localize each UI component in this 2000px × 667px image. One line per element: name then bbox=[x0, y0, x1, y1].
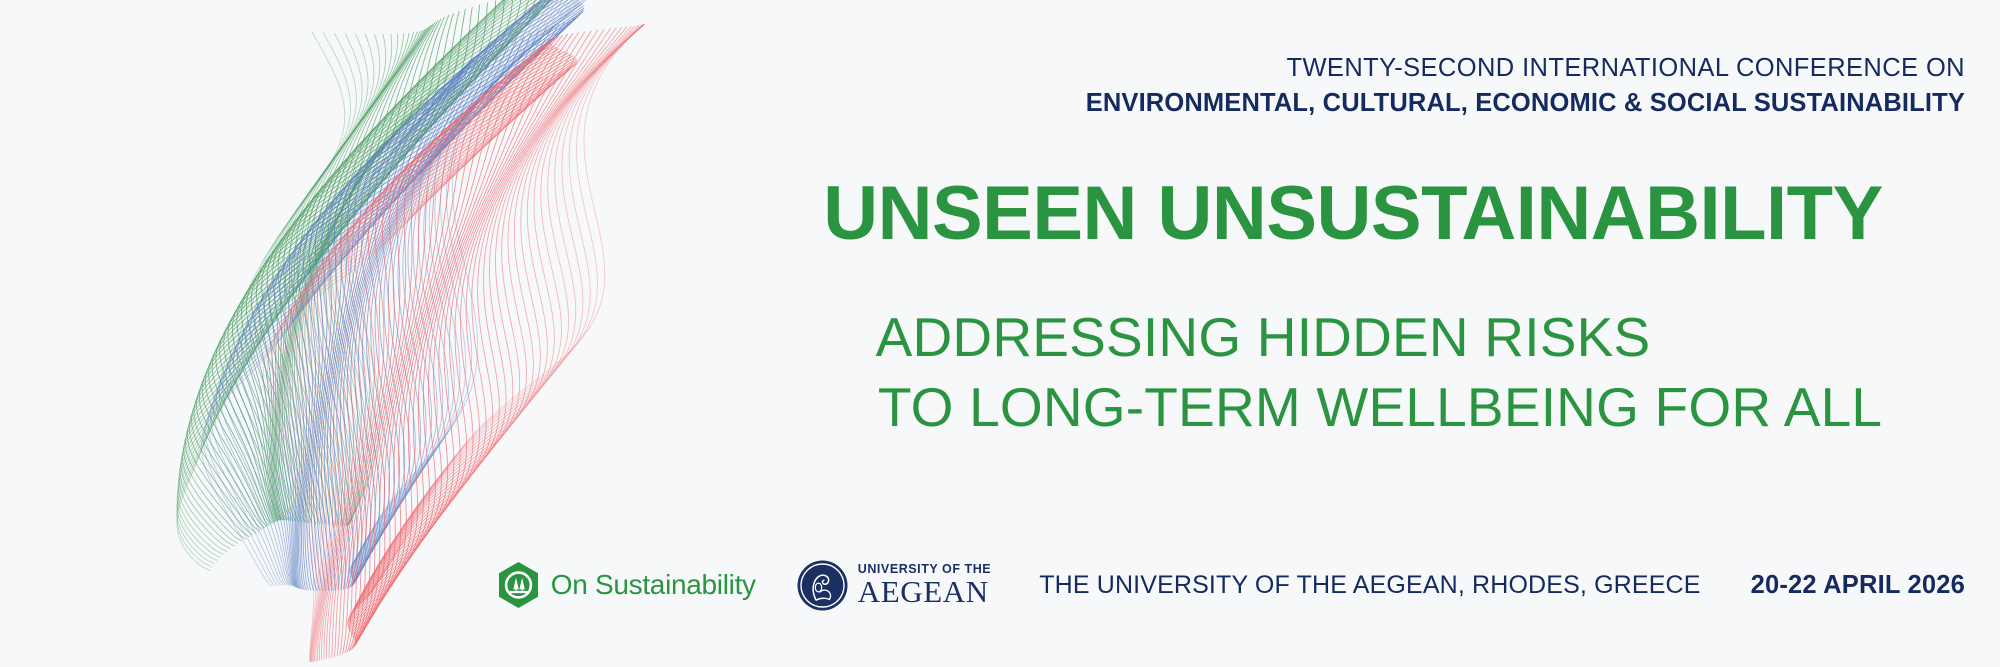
artwork-strand bbox=[220, 17, 445, 522]
artwork-strand bbox=[177, 33, 362, 560]
university-of-the-aegean-logo[interactable]: UNIVERSITY OF THE AEGEAN bbox=[796, 559, 991, 612]
on-sustainability-logo[interactable]: On Sustainability bbox=[497, 561, 756, 609]
artwork-strand bbox=[351, 0, 570, 586]
artwork-strand bbox=[219, 66, 467, 585]
artwork-strand bbox=[317, 0, 577, 526]
conference-eyebrow-line-1: TWENTY-SECOND INTERNATIONAL CONFERENCE O… bbox=[1086, 52, 1965, 85]
artwork-strand bbox=[355, 49, 560, 646]
artwork-strand bbox=[296, 81, 531, 661]
artwork-strand bbox=[350, 0, 570, 575]
artwork-strand bbox=[264, 40, 509, 589]
artwork-strand bbox=[353, 27, 622, 611]
artwork-strand bbox=[255, 45, 497, 588]
artwork-strand bbox=[353, 0, 565, 585]
artwork-strand bbox=[286, 31, 539, 590]
artwork-strand bbox=[259, 43, 503, 589]
artwork-strand bbox=[223, 64, 468, 586]
on-sustainability-wordmark: On Sustainability bbox=[551, 569, 756, 601]
conference-eyebrow-line-2: ENVIRONMENTAL, CULTURAL, ECONOMIC & SOCI… bbox=[1086, 87, 1965, 120]
artwork-strand bbox=[177, 33, 356, 564]
artwork-strand bbox=[351, 0, 600, 567]
artwork-strand bbox=[212, 21, 438, 523]
artwork-strand bbox=[352, 53, 568, 649]
artwork-strand bbox=[353, 0, 561, 583]
artwork-strand bbox=[182, 33, 403, 541]
subtitle-line-2: TO LONG-TERM WELLBEING FOR ALL bbox=[860, 380, 1900, 435]
artwork-strand bbox=[344, 0, 576, 588]
artwork-strand bbox=[353, 0, 563, 584]
artwork-strand bbox=[373, 24, 644, 588]
artwork-strand bbox=[340, 0, 570, 525]
artwork-strand bbox=[324, 10, 584, 591]
artwork-strand bbox=[368, 24, 644, 596]
artwork-strand bbox=[257, 0, 496, 520]
artwork-strand bbox=[246, 5, 479, 520]
artwork-strand bbox=[350, 37, 555, 632]
artwork-strand bbox=[178, 34, 379, 552]
artwork-strand bbox=[262, 0, 505, 521]
aegean-wordmark: UNIVERSITY OF THE AEGEAN bbox=[858, 563, 991, 608]
artwork-strand bbox=[336, 0, 571, 525]
artwork-strand bbox=[233, 57, 474, 586]
artwork-strand bbox=[280, 33, 531, 590]
artwork-strand bbox=[352, 40, 551, 636]
artwork-strand bbox=[267, 94, 498, 662]
artwork-strand bbox=[352, 0, 562, 579]
artwork-strand bbox=[309, 22, 565, 591]
artwork-strand bbox=[350, 0, 589, 569]
footer-row: On Sustainability UNIVERSITY OF THE AEGE… bbox=[700, 552, 2000, 618]
artwork-strand bbox=[224, 15, 449, 521]
conference-header: TWENTY-SECOND INTERNATIONAL CONFERENCE O… bbox=[1086, 52, 1965, 119]
artwork-strand bbox=[209, 22, 436, 523]
content-column: TWENTY-SECOND INTERNATIONAL CONFERENCE O… bbox=[700, 0, 2000, 667]
artwork-strand bbox=[286, 86, 519, 662]
artwork-strand bbox=[353, 41, 551, 637]
artwork-strand bbox=[216, 19, 441, 522]
conference-banner: TWENTY-SECOND INTERNATIONAL CONFERENCE O… bbox=[0, 0, 2000, 667]
artwork-strand bbox=[251, 3, 487, 521]
artwork-strand bbox=[278, 0, 530, 521]
artwork-strand bbox=[272, 92, 503, 662]
artwork-strand bbox=[370, 24, 645, 594]
artwork-strand bbox=[348, 32, 586, 623]
venue-text: THE UNIVERSITY OF THE AEGEAN, RHODES, GR… bbox=[1039, 571, 1700, 600]
artwork-strand bbox=[351, 29, 611, 616]
artwork-strand bbox=[340, 0, 578, 588]
artwork-strand bbox=[206, 77, 463, 586]
artwork-strand bbox=[192, 30, 424, 531]
artwork-strand bbox=[324, 0, 573, 526]
artwork-strand bbox=[353, 0, 560, 581]
artwork-strand bbox=[354, 42, 551, 638]
artwork-strand bbox=[205, 24, 433, 525]
artwork-strand bbox=[353, 0, 560, 582]
artwork-strand bbox=[228, 13, 454, 521]
artwork-strand bbox=[337, 2, 581, 589]
artwork-strand bbox=[297, 26, 553, 590]
artwork-green-ribbon bbox=[177, 0, 585, 570]
artwork-strand bbox=[187, 32, 417, 535]
artwork-strand bbox=[226, 62, 470, 586]
artwork-strand bbox=[250, 47, 491, 587]
artwork-strand bbox=[349, 29, 604, 617]
artwork-strand bbox=[204, 79, 462, 586]
aegean-seal-icon bbox=[796, 559, 849, 612]
artwork-strand bbox=[349, 36, 559, 630]
artwork-strand bbox=[327, 8, 584, 590]
artwork-strand bbox=[359, 26, 635, 606]
artwork-strand bbox=[316, 16, 578, 591]
artwork-strand bbox=[352, 28, 617, 614]
artwork-strand bbox=[202, 25, 431, 526]
artwork-strand bbox=[354, 50, 562, 647]
artwork-strand bbox=[290, 0, 576, 524]
artwork-strand bbox=[308, 0, 583, 526]
artwork-strand bbox=[297, 0, 584, 525]
artwork-strand bbox=[353, 51, 565, 648]
artwork-strand bbox=[177, 34, 368, 558]
artwork-strand bbox=[242, 7, 473, 520]
artwork-strand bbox=[332, 0, 571, 525]
artwork-strand bbox=[230, 59, 472, 586]
artwork-strand bbox=[279, 0, 538, 522]
artwork-strand bbox=[344, 0, 571, 524]
artwork-strand bbox=[350, 0, 594, 568]
artwork-strand bbox=[347, 0, 573, 587]
artwork-strand bbox=[355, 27, 627, 610]
artwork-strand bbox=[213, 71, 465, 586]
artwork-strand bbox=[355, 46, 554, 643]
artwork-strand bbox=[334, 4, 583, 589]
artwork-strand bbox=[273, 0, 522, 521]
artwork-strand bbox=[237, 55, 477, 587]
artwork-strand bbox=[237, 9, 466, 520]
artwork-strand bbox=[353, 0, 612, 564]
artwork-strand bbox=[177, 32, 345, 570]
artwork-strand bbox=[282, 0, 553, 522]
artwork-strand bbox=[348, 0, 572, 524]
artwork-strand bbox=[194, 29, 425, 530]
artwork-strand bbox=[311, 0, 581, 526]
artwork-strand bbox=[351, 0, 564, 577]
artwork-strand bbox=[314, 0, 579, 526]
artwork-strand bbox=[269, 38, 516, 589]
artwork-strand bbox=[374, 24, 644, 586]
artwork-strand bbox=[330, 6, 583, 590]
artwork-strand bbox=[302, 0, 584, 525]
date-text: 20-22 APRIL 2026 bbox=[1751, 571, 1965, 600]
artwork-strand bbox=[232, 11, 459, 520]
artwork-strand bbox=[181, 34, 398, 544]
artwork-strand bbox=[319, 14, 581, 591]
artwork-strand bbox=[355, 45, 552, 642]
page-title: UNSEEN UNSUSTAINABILITY bbox=[758, 176, 1948, 252]
artwork-strand bbox=[263, 96, 495, 662]
artwork-strand bbox=[184, 33, 409, 539]
subtitle-line-1: ADDRESSING HIDDEN RISKS bbox=[758, 310, 1768, 365]
artwork-strand bbox=[177, 33, 351, 567]
artwork-strand bbox=[354, 0, 616, 562]
artwork-strand bbox=[208, 75, 464, 586]
artwork-strand bbox=[186, 32, 414, 537]
artwork-strand bbox=[348, 31, 592, 621]
artwork-strand bbox=[322, 12, 583, 591]
artwork-strand bbox=[356, 0, 622, 560]
artwork-strand bbox=[352, 0, 606, 565]
artwork-strand bbox=[299, 0, 584, 525]
artwork-strand bbox=[197, 28, 428, 529]
artwork-strand bbox=[314, 18, 575, 591]
artwork-strand bbox=[178, 34, 374, 555]
artwork-strand bbox=[305, 0, 584, 526]
artwork-strand bbox=[365, 25, 643, 600]
artwork-strand bbox=[246, 50, 486, 588]
artwork-strand bbox=[355, 47, 556, 644]
artwork-strand bbox=[294, 0, 581, 525]
artwork-strand bbox=[288, 0, 572, 524]
artwork-strand bbox=[276, 90, 508, 662]
artwork-strand bbox=[363, 25, 641, 602]
artwork-strand bbox=[328, 0, 572, 525]
artwork-strand bbox=[351, 0, 567, 576]
artwork-strand bbox=[216, 69, 466, 586]
artwork-strand bbox=[180, 34, 392, 546]
artwork-strand bbox=[372, 24, 644, 590]
artwork-strand bbox=[284, 0, 560, 523]
artwork-strand bbox=[202, 81, 460, 586]
artwork-strand bbox=[311, 20, 570, 591]
artwork-strand bbox=[267, 0, 513, 521]
artwork-strand bbox=[281, 88, 513, 662]
artwork-strand bbox=[349, 35, 563, 629]
artwork-strand bbox=[357, 26, 631, 608]
artwork-strand bbox=[281, 0, 547, 522]
artwork-strand bbox=[348, 34, 568, 627]
artwork-blue-ribbon bbox=[202, 0, 622, 591]
artwork-strand bbox=[354, 43, 551, 639]
artwork-strand bbox=[348, 33, 573, 625]
artwork-strand bbox=[351, 39, 553, 634]
artwork-strand bbox=[275, 36, 524, 590]
artwork-strand bbox=[349, 30, 598, 619]
aegean-wordmark-line-2: AEGEAN bbox=[858, 576, 991, 607]
artwork-strand bbox=[241, 52, 481, 587]
artwork-strand bbox=[361, 25, 638, 604]
artwork-strand bbox=[350, 0, 579, 572]
artwork-strand bbox=[199, 27, 429, 527]
artwork-strand bbox=[292, 0, 579, 524]
hexagon-trees-icon bbox=[497, 561, 540, 609]
artwork-strand bbox=[189, 31, 420, 533]
artwork-strand bbox=[179, 34, 386, 549]
artwork-strand bbox=[367, 25, 644, 599]
artwork-strand bbox=[303, 24, 559, 591]
artwork-strand bbox=[290, 83, 524, 661]
artwork-strand bbox=[352, 0, 560, 580]
artwork-strand bbox=[347, 32, 578, 624]
artwork-strand bbox=[291, 29, 546, 591]
artwork-strand bbox=[286, 0, 567, 523]
artwork-strand bbox=[350, 0, 574, 574]
artwork-strand bbox=[353, 0, 568, 586]
artwork-strand bbox=[350, 0, 584, 571]
artwork-strand bbox=[321, 0, 576, 526]
artwork-strand bbox=[371, 24, 645, 592]
artwork-strand bbox=[211, 73, 465, 585]
